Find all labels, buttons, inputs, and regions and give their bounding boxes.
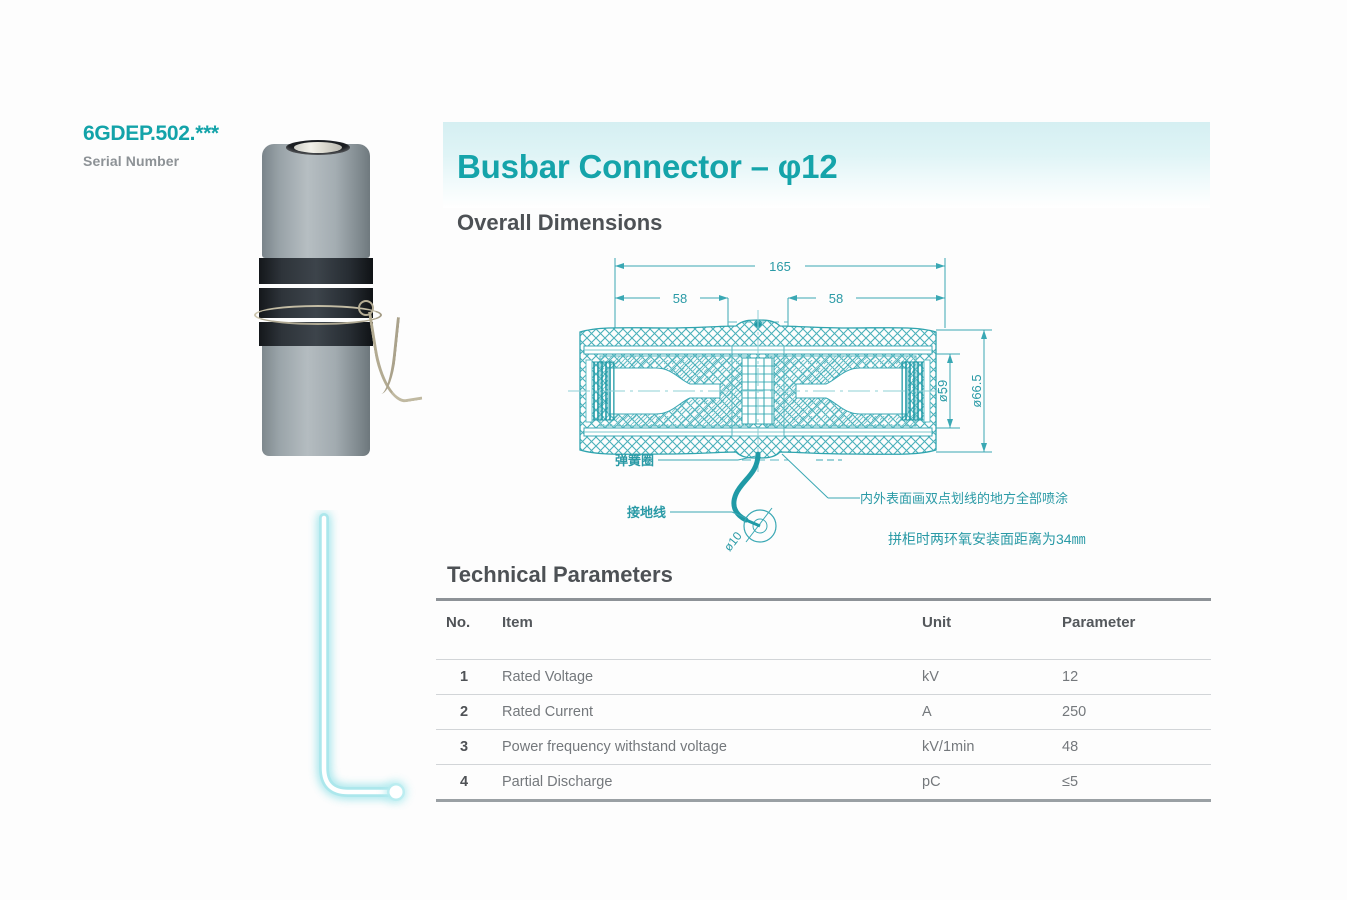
cell-parameter: ≤5 <box>1062 765 1211 801</box>
note-coating: 内外表面画双点划线的地方全部喷涂 <box>860 491 1068 506</box>
cell-unit: kV <box>922 660 1062 695</box>
technical-parameters-table: No. Item Unit Parameter 1 Rated Voltage … <box>436 598 1211 802</box>
cell-item: Rated Voltage <box>492 660 922 695</box>
dimension-left-58: 58 <box>673 291 687 306</box>
column-header-parameter: Parameter <box>1062 600 1211 660</box>
column-header-no: No. <box>436 600 492 660</box>
label-hole-diameter: ø10 <box>721 529 745 554</box>
cell-no: 1 <box>436 660 492 695</box>
ground-wire-path <box>734 454 758 520</box>
label-spring-coil: 弹簧圈 <box>615 453 654 468</box>
connector-upper-shell <box>262 144 370 258</box>
datasheet-page: 6GDEP.502.*** Serial Number <box>0 0 1347 900</box>
page-title: Busbar Connector – φ12 <box>457 148 837 186</box>
dimension-outer-diameter: ø66.5 <box>969 374 984 407</box>
cell-parameter: 48 <box>1062 730 1211 765</box>
dimension-inner-diameter: ø59 <box>935 380 950 402</box>
cell-parameter: 12 <box>1062 660 1211 695</box>
overall-dimensions-drawing: 165 58 58 <box>560 248 1140 558</box>
table-row: 3 Power frequency withstand voltage kV/1… <box>436 730 1211 765</box>
serial-number-block: 6GDEP.502.*** Serial Number <box>83 122 219 169</box>
cell-no: 4 <box>436 765 492 801</box>
cell-parameter: 250 <box>1062 695 1211 730</box>
connector-lower-shell <box>262 328 370 456</box>
serial-number-code: 6GDEP.502.*** <box>83 122 219 146</box>
table-row: 1 Rated Voltage kV 12 <box>436 660 1211 695</box>
cell-unit: pC <box>922 765 1062 801</box>
glowing-cable-graphic <box>296 510 416 810</box>
rubber-ring-lower <box>259 322 373 346</box>
dimension-right-58: 58 <box>829 291 843 306</box>
cell-item: Partial Discharge <box>492 765 922 801</box>
connector-body <box>262 130 370 448</box>
note-cabinet-spacing: 拼柜时两环氧安装面距离为34㎜ <box>888 531 1086 547</box>
serial-number-label: Serial Number <box>83 153 219 169</box>
cell-no: 2 <box>436 695 492 730</box>
section-heading-parameters: Technical Parameters <box>447 562 673 588</box>
section-heading-dimensions: Overall Dimensions <box>457 210 662 236</box>
table-row: 4 Partial Discharge pC ≤5 <box>436 765 1211 801</box>
rubber-ring-upper <box>259 258 373 284</box>
table-body: 1 Rated Voltage kV 12 2 Rated Current A … <box>436 660 1211 801</box>
cell-item: Rated Current <box>492 695 922 730</box>
cell-item: Power frequency withstand voltage <box>492 730 922 765</box>
cell-no: 3 <box>436 730 492 765</box>
label-ground-wire: 接地线 <box>627 505 666 520</box>
column-header-item: Item <box>492 600 922 660</box>
dimension-total-length: 165 <box>769 259 791 274</box>
table-header: No. Item Unit Parameter <box>436 600 1211 660</box>
connector-metal-contact <box>294 142 342 153</box>
column-header-unit: Unit <box>922 600 1062 660</box>
cell-unit: A <box>922 695 1062 730</box>
table-row: 2 Rated Current A 250 <box>436 695 1211 730</box>
product-photo <box>252 122 442 452</box>
cell-unit: kV/1min <box>922 730 1062 765</box>
